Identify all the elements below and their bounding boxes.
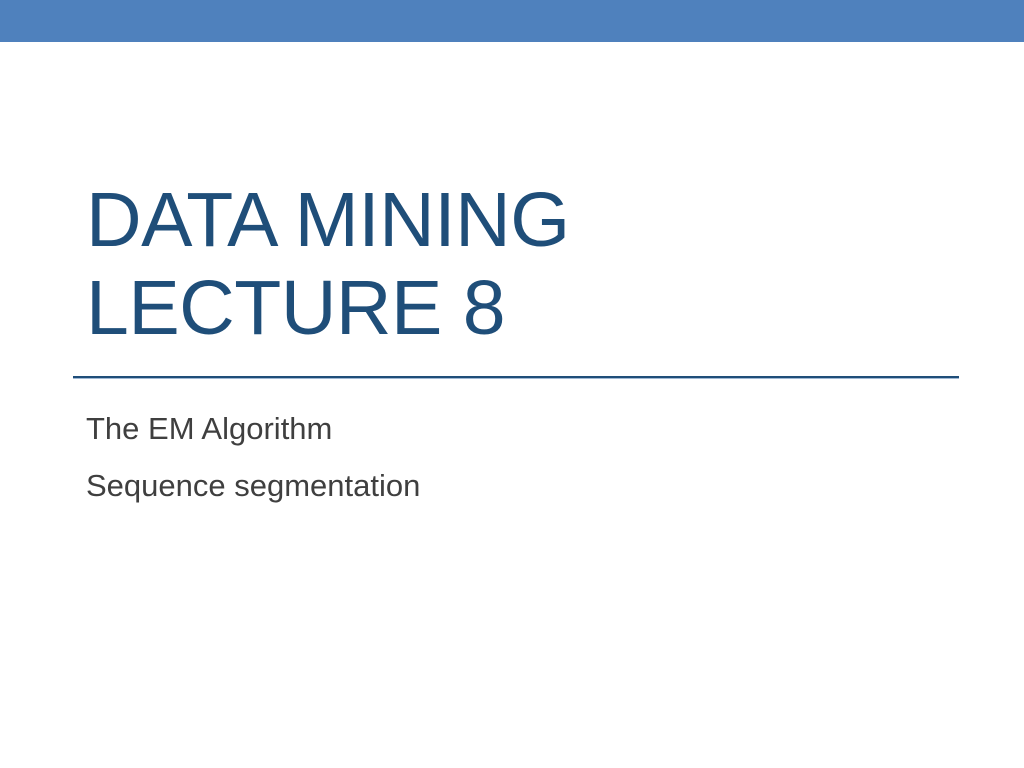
slide-subtitle: The EM Algorithm Sequence segmentation bbox=[86, 400, 966, 514]
slide-canvas: DATA MINING LECTURE 8 The EM Algorithm S… bbox=[0, 0, 1024, 768]
subtitle-line-2: Sequence segmentation bbox=[86, 457, 966, 514]
title-line-2: LECTURE 8 bbox=[86, 264, 966, 352]
top-accent-banner bbox=[0, 0, 1024, 42]
subtitle-line-1: The EM Algorithm bbox=[86, 400, 966, 457]
title-divider-rule bbox=[73, 376, 959, 379]
slide-title: DATA MINING LECTURE 8 bbox=[86, 176, 966, 352]
title-line-1: DATA MINING bbox=[86, 176, 966, 264]
